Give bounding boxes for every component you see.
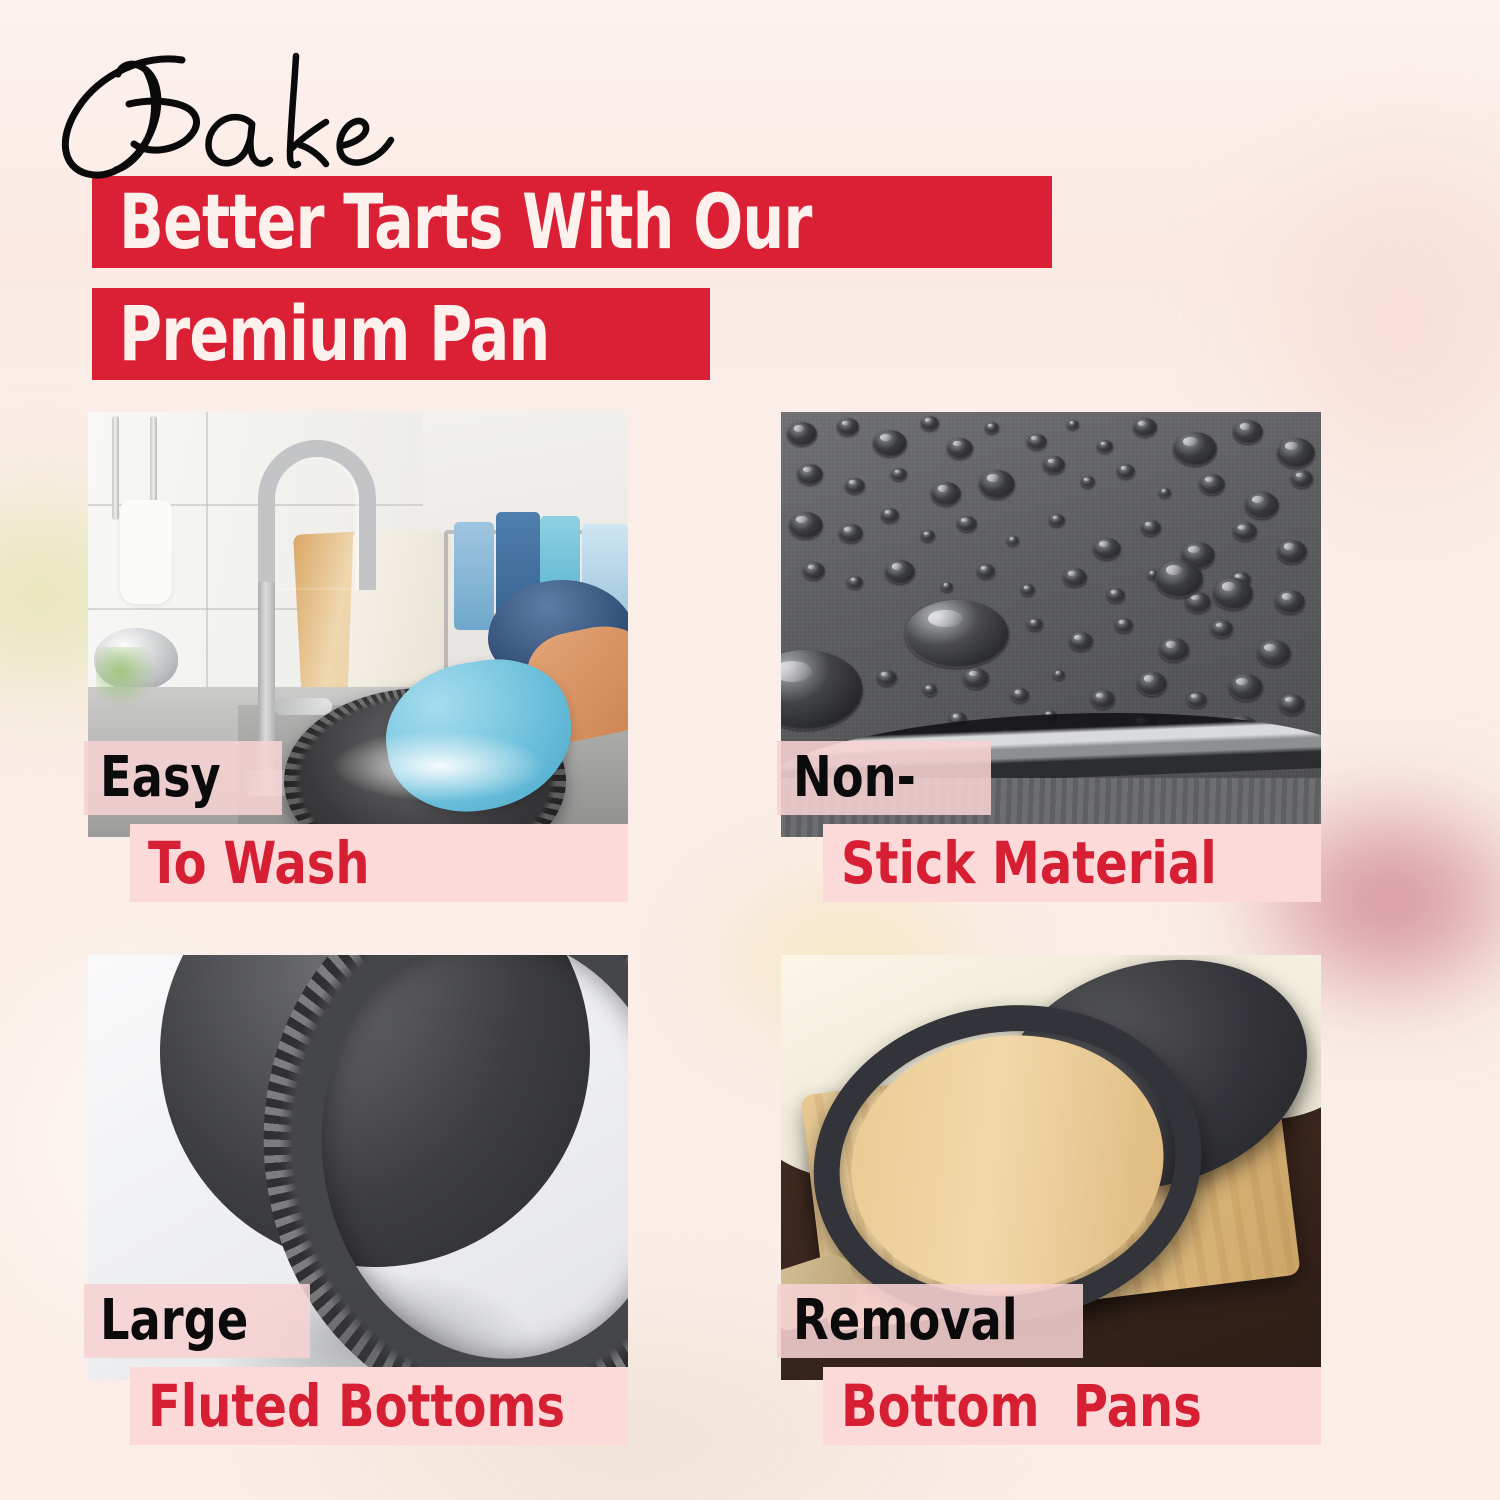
label-red-text-stick-material: Stick Material <box>841 834 1217 892</box>
label-black-text-large: Large <box>100 1293 248 1349</box>
product-feature-graphic: Better Tarts With Our Premium Pan <box>0 0 1500 1500</box>
feature-card-easy-to-wash: Easy To Wash <box>88 412 628 837</box>
feature-card-large-fluted-bottoms: Large Fluted Bottoms <box>88 955 628 1380</box>
label-red-text-bottom-pans: Bottom Pans <box>841 1377 1202 1435</box>
feature-card-removable-bottom-pans: Removal Bottom Pans <box>781 955 1321 1380</box>
headline-text-line-2: Premium Pan <box>119 300 549 368</box>
headline-band-line-1: Better Tarts With Our <box>92 176 1052 268</box>
label-red-bottom-pans: Bottom Pans <box>823 1367 1321 1445</box>
feature-card-non-stick-material: Non- Stick Material <box>781 412 1321 837</box>
script-bake-icon <box>34 52 414 182</box>
label-black-easy: Easy <box>84 741 282 815</box>
label-black-text-easy: Easy <box>100 750 221 806</box>
label-black-non: Non- <box>777 741 991 815</box>
label-black-text-non: Non- <box>793 750 916 806</box>
label-red-text-to-wash: To Wash <box>148 834 370 892</box>
label-red-stick-material: Stick Material <box>823 824 1321 902</box>
label-black-text-removal: Removal <box>793 1293 1018 1349</box>
script-word-bake <box>34 52 414 182</box>
label-red-fluted-bottoms: Fluted Bottoms <box>130 1367 628 1445</box>
headline-text-line-1: Better Tarts With Our <box>119 188 812 256</box>
label-red-text-fluted-bottoms: Fluted Bottoms <box>148 1377 565 1435</box>
label-red-to-wash: To Wash <box>130 824 628 902</box>
label-black-large: Large <box>84 1284 310 1358</box>
label-black-removal: Removal <box>777 1284 1083 1358</box>
headline-band-line-2: Premium Pan <box>92 288 710 380</box>
